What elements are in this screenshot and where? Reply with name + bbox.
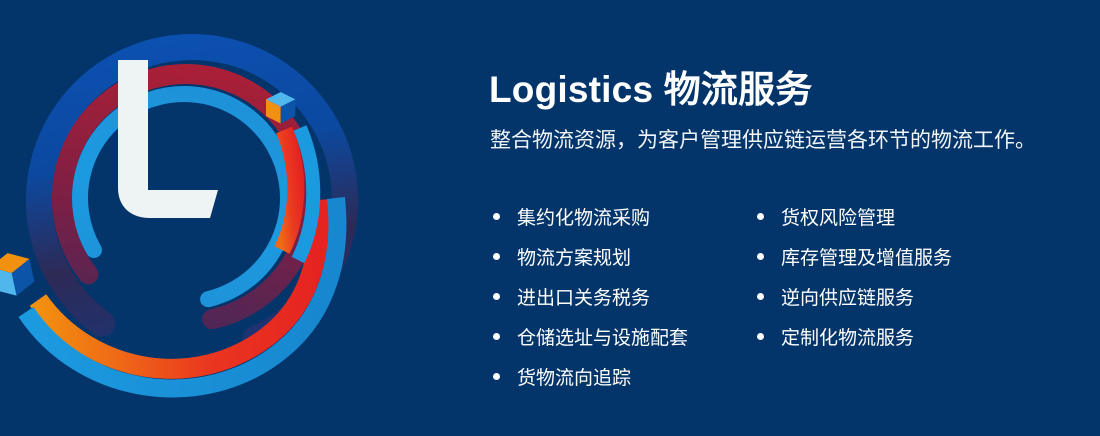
list-item[interactable]: 进出口关务税务: [489, 276, 753, 316]
service-label: 货物流向追踪: [517, 363, 631, 390]
list-item[interactable]: 逆向供应链服务: [753, 276, 1053, 316]
service-label: 进出口关务税务: [517, 283, 650, 310]
logistics-service-banner: Logistics 物流服务 整合物流资源，为客户管理供应链运营各环节的物流工作…: [0, 0, 1100, 436]
bullet-icon: [493, 213, 500, 220]
service-list-left: 集约化物流采购 物流方案规划 进出口关务税务 仓储选址与设施配套 货物流向追踪: [489, 196, 753, 396]
list-item[interactable]: 集约化物流采购: [489, 196, 753, 236]
bullet-icon: [493, 293, 500, 300]
service-label: 逆向供应链服务: [781, 283, 914, 310]
bullet-icon: [493, 373, 500, 380]
service-label: 集约化物流采购: [517, 203, 650, 230]
service-list-right: 货权风险管理 库存管理及增值服务 逆向供应链服务 定制化物流服务: [753, 196, 1053, 396]
bullet-icon: [757, 293, 764, 300]
list-item[interactable]: 物流方案规划: [489, 236, 753, 276]
service-label: 定制化物流服务: [781, 323, 914, 350]
service-label: 货权风险管理: [781, 203, 895, 230]
page-subtitle: 整合物流资源，为客户管理供应链运营各环节的物流工作。: [490, 126, 1036, 156]
bullet-icon: [493, 333, 500, 340]
logistics-circle-logo: [0, 0, 440, 436]
page-title: Logistics 物流服务: [489, 68, 813, 112]
list-item[interactable]: 货物流向追踪: [489, 356, 753, 396]
service-content: Logistics 物流服务 整合物流资源，为客户管理供应链运营各环节的物流工作…: [489, 0, 1100, 436]
bullet-icon: [757, 253, 764, 260]
list-item[interactable]: 仓储选址与设施配套: [489, 316, 753, 356]
bullet-icon: [757, 333, 764, 340]
service-label: 物流方案规划: [517, 243, 631, 270]
list-item[interactable]: 库存管理及增值服务: [753, 236, 1053, 276]
isometric-cube-icon: [0, 249, 36, 300]
bullet-icon: [493, 253, 500, 260]
service-lists: 集约化物流采购 物流方案规划 进出口关务税务 仓储选址与设施配套 货物流向追踪: [489, 196, 1100, 396]
service-label: 库存管理及增值服务: [781, 243, 952, 270]
list-item[interactable]: 货权风险管理: [753, 196, 1053, 236]
bullet-icon: [757, 213, 764, 220]
service-label: 仓储选址与设施配套: [517, 323, 688, 350]
list-item[interactable]: 定制化物流服务: [753, 316, 1053, 356]
